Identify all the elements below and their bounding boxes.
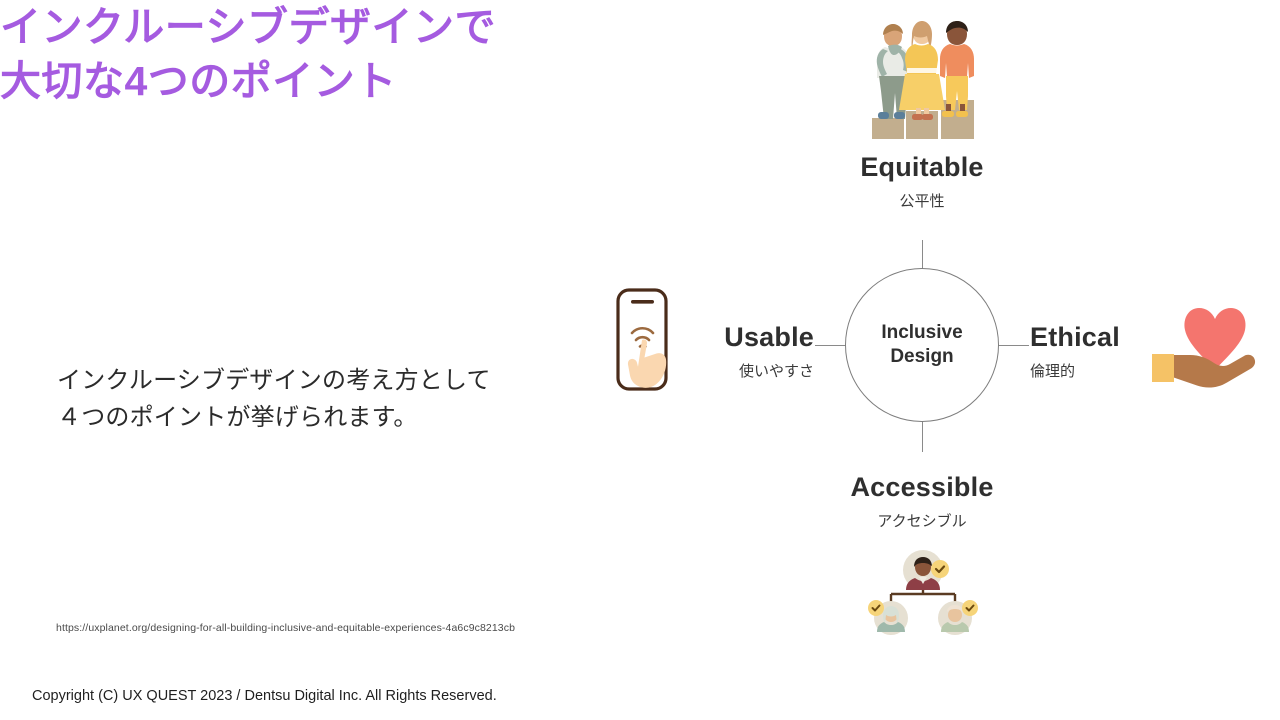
node-label-accessible-en: Accessible [822,472,1022,503]
connector-line-left [815,345,847,346]
source-url-caption: https://uxplanet.org/designing-for-all-b… [56,622,515,634]
copyright-notice: Copyright (C) UX QUEST 2023 / Dentsu Dig… [32,688,497,704]
connector-line-right [997,345,1029,346]
node-label-accessible-jp: アクセシブル [822,512,1022,532]
connector-line-top [922,240,923,270]
node-label-ethical-jp: 倫理的 [1030,362,1230,382]
center-label-line2: Design [890,345,953,369]
verified-avatars-org-chart-icon [858,550,988,636]
node-label-usable: Usable 使いやすさ [608,322,814,382]
node-label-accessible: Accessible アクセシブル [822,472,1022,532]
node-label-usable-jp: 使いやすさ [608,362,814,382]
node-label-usable-en: Usable [608,322,814,353]
page-subcopy: インクルーシブデザインの考え方として ４つのポイントが挙げられます。 [57,362,617,436]
node-label-equitable-jp: 公平性 [822,192,1022,212]
node-label-equitable: Equitable 公平性 [822,152,1022,212]
center-label-line1: Inclusive [881,321,962,345]
node-label-equitable-en: Equitable [822,152,1022,183]
node-label-ethical: Ethical 倫理的 [1030,322,1230,382]
page-title: インクルーシブデザインで 大切な4つのポイント [0,0,1280,108]
connector-line-bottom [922,420,923,452]
slide-canvas: インクルーシブデザインで 大切な4つのポイント インクルーシブデザインの考え方と… [0,0,1280,720]
diagram-center-node: Inclusive Design [845,268,999,422]
three-people-on-boxes-icon [866,8,978,140]
node-label-ethical-en: Ethical [1030,322,1230,353]
